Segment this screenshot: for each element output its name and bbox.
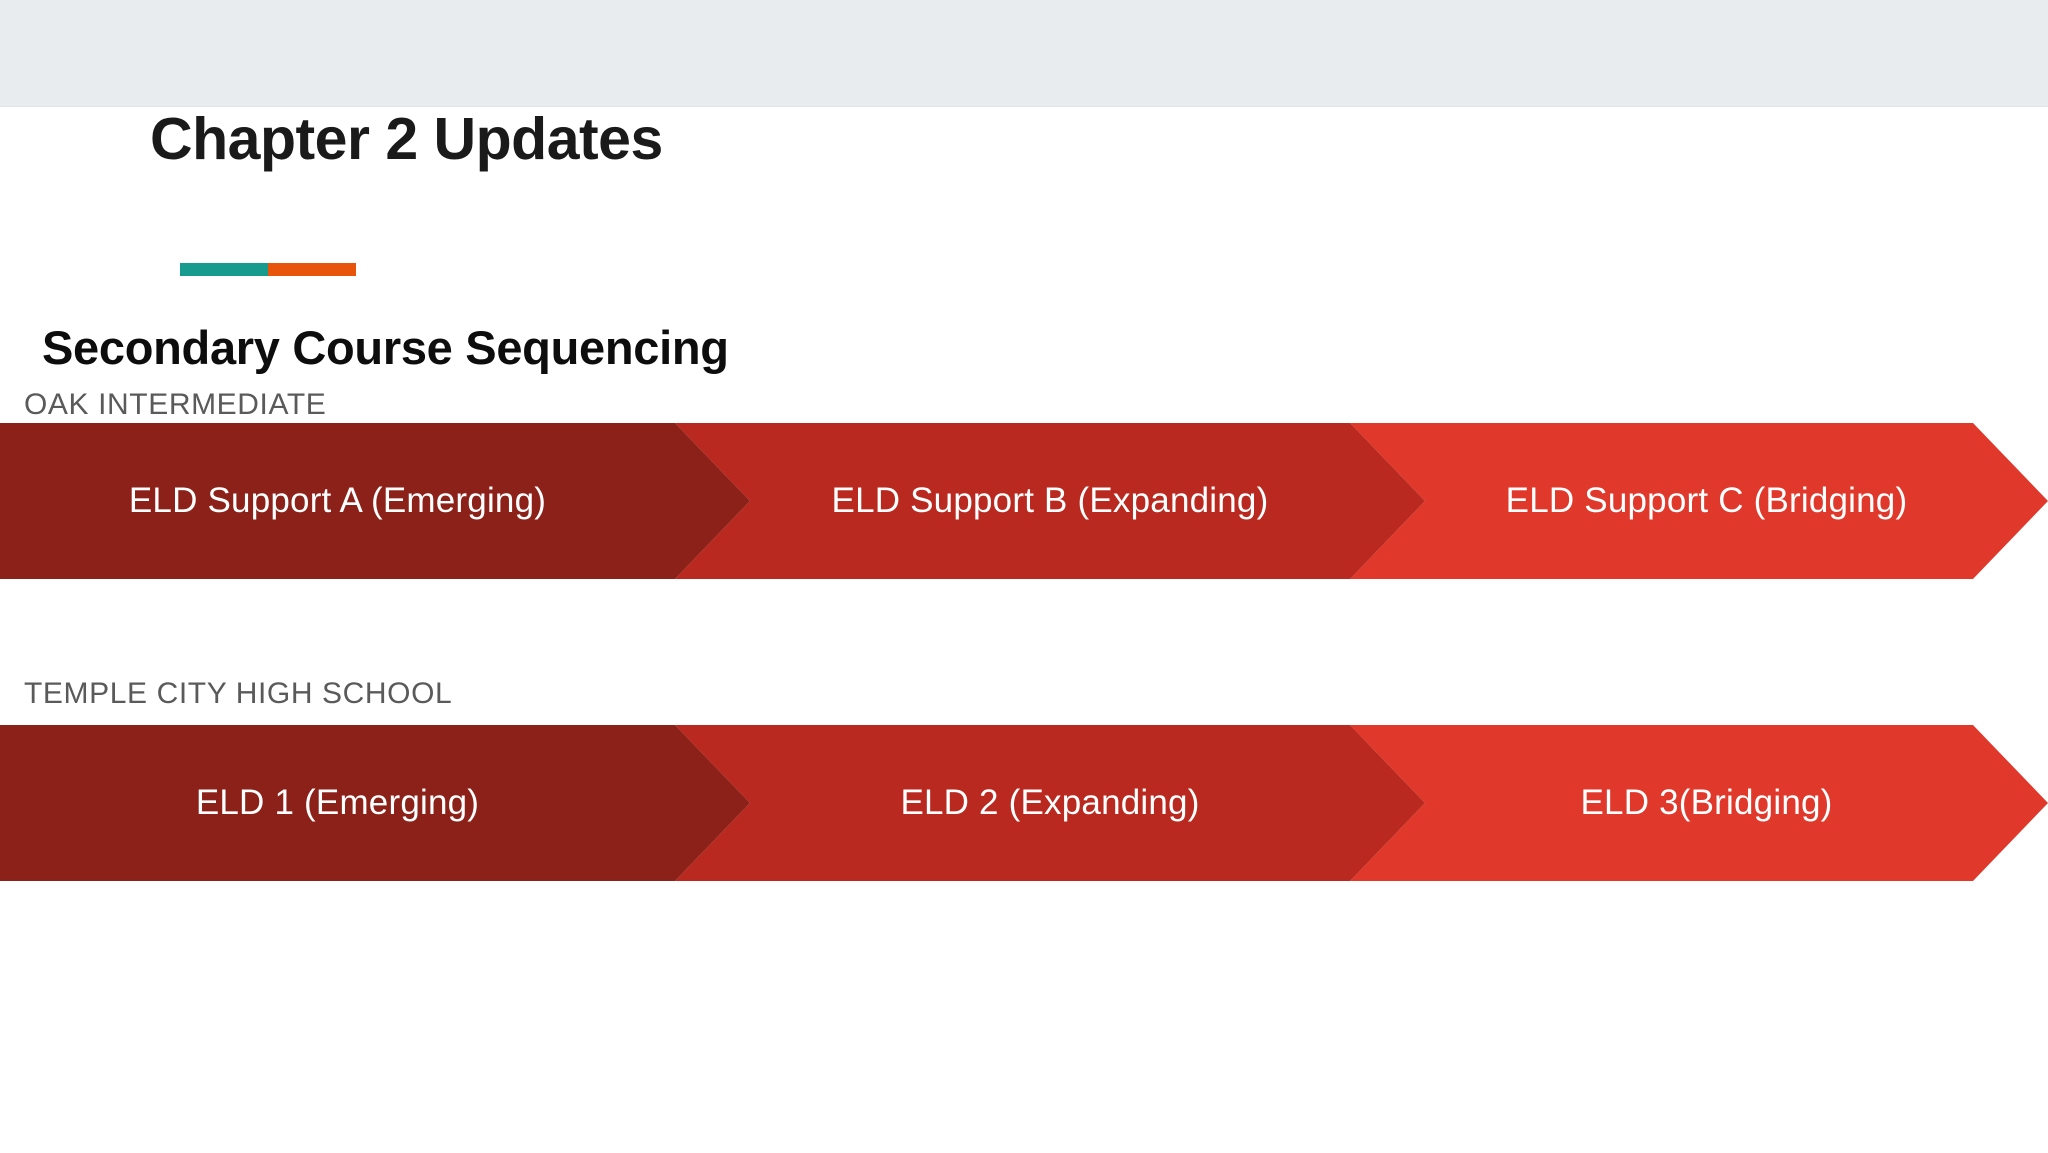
group-label-temple-city-high-school: TEMPLE CITY HIGH SCHOOL xyxy=(24,677,452,710)
accent-divider-segment-orange xyxy=(268,263,356,276)
page-title: Chapter 2 Updates xyxy=(150,109,663,171)
sequence-step-tchs-2[interactable]: ELD 2 (Expanding) xyxy=(675,725,1425,881)
sequence-step-label: ELD Support B (Expanding) xyxy=(675,482,1425,521)
sequence-step-tchs-3[interactable]: ELD 3(Bridging) xyxy=(1350,725,2048,881)
sequence-step-tchs-1[interactable]: ELD 1 (Emerging) xyxy=(0,725,750,881)
sequence-step-oak-1[interactable]: ELD Support A (Emerging) xyxy=(0,423,750,579)
sequence-step-label: ELD 2 (Expanding) xyxy=(675,784,1425,823)
slide-canvas: Chapter 2 Updates Secondary Course Seque… xyxy=(0,107,2048,1153)
sequence-step-label: ELD Support A (Emerging) xyxy=(0,482,750,521)
sequence-step-label: ELD 1 (Emerging) xyxy=(0,784,750,823)
sequence-step-oak-2[interactable]: ELD Support B (Expanding) xyxy=(675,423,1425,579)
section-heading: Secondary Course Sequencing xyxy=(42,323,729,372)
sequence-step-label: ELD Support C (Bridging) xyxy=(1350,482,2048,521)
sequence-row-temple-city-high-school: ELD 1 (Emerging) ELD 2 (Expanding) ELD 3… xyxy=(0,725,2048,881)
accent-divider xyxy=(180,263,356,276)
sequence-step-oak-3[interactable]: ELD Support C (Bridging) xyxy=(1350,423,2048,579)
sequence-step-label: ELD 3(Bridging) xyxy=(1350,784,2048,823)
group-label-oak-intermediate: OAK INTERMEDIATE xyxy=(24,388,326,421)
window-chrome-bar xyxy=(0,0,2048,107)
accent-divider-segment-teal xyxy=(180,263,268,276)
sequence-row-oak-intermediate: ELD Support A (Emerging) ELD Support B (… xyxy=(0,423,2048,579)
